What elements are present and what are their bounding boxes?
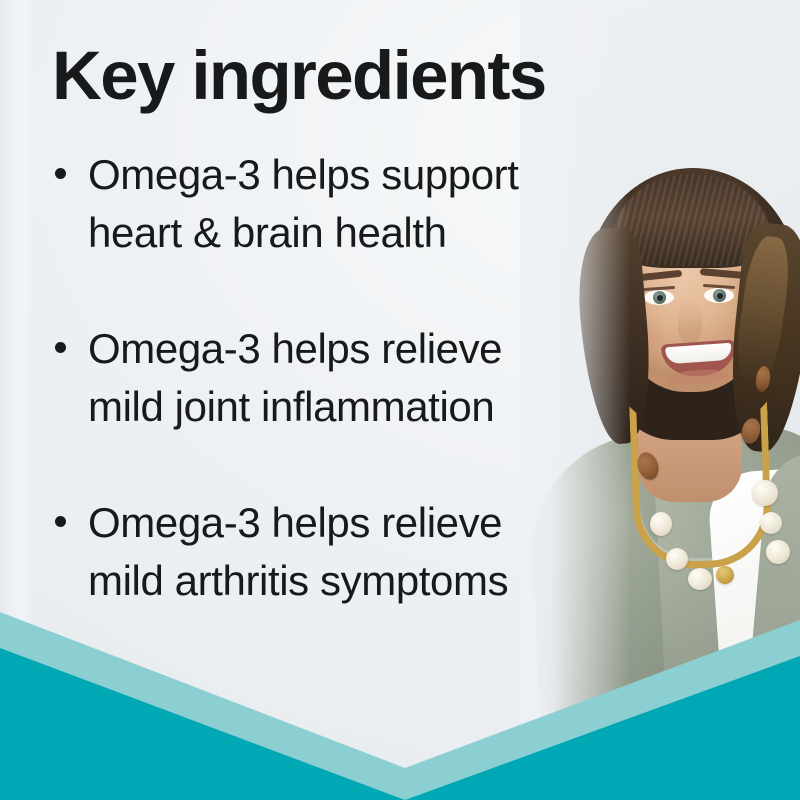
benefit-line-1: Omega-3 helps support: [88, 146, 592, 204]
benefit-list: Omega-3 helps support heart & brain heal…: [52, 146, 592, 610]
bullet-dot-icon: [55, 342, 66, 353]
benefit-card: Key ingredients Omega-3 helps support he…: [0, 0, 800, 800]
bullet-dot-icon: [55, 516, 66, 527]
benefit-line-2: mild arthritis symptoms: [88, 552, 592, 610]
benefit-line-1: Omega-3 helps relieve: [88, 320, 592, 378]
page-title: Key ingredients: [52, 38, 592, 114]
benefit-line-2: heart & brain health: [88, 204, 592, 262]
list-item: Omega-3 helps relieve mild joint inflamm…: [52, 320, 592, 436]
benefit-line-1: Omega-3 helps relieve: [88, 494, 592, 552]
list-item: Omega-3 helps support heart & brain heal…: [52, 146, 592, 262]
text-column: Key ingredients Omega-3 helps support he…: [52, 38, 592, 610]
list-item: Omega-3 helps relieve mild arthritis sym…: [52, 494, 592, 610]
bullet-dot-icon: [55, 168, 66, 179]
benefit-line-2: mild joint inflammation: [88, 378, 592, 436]
